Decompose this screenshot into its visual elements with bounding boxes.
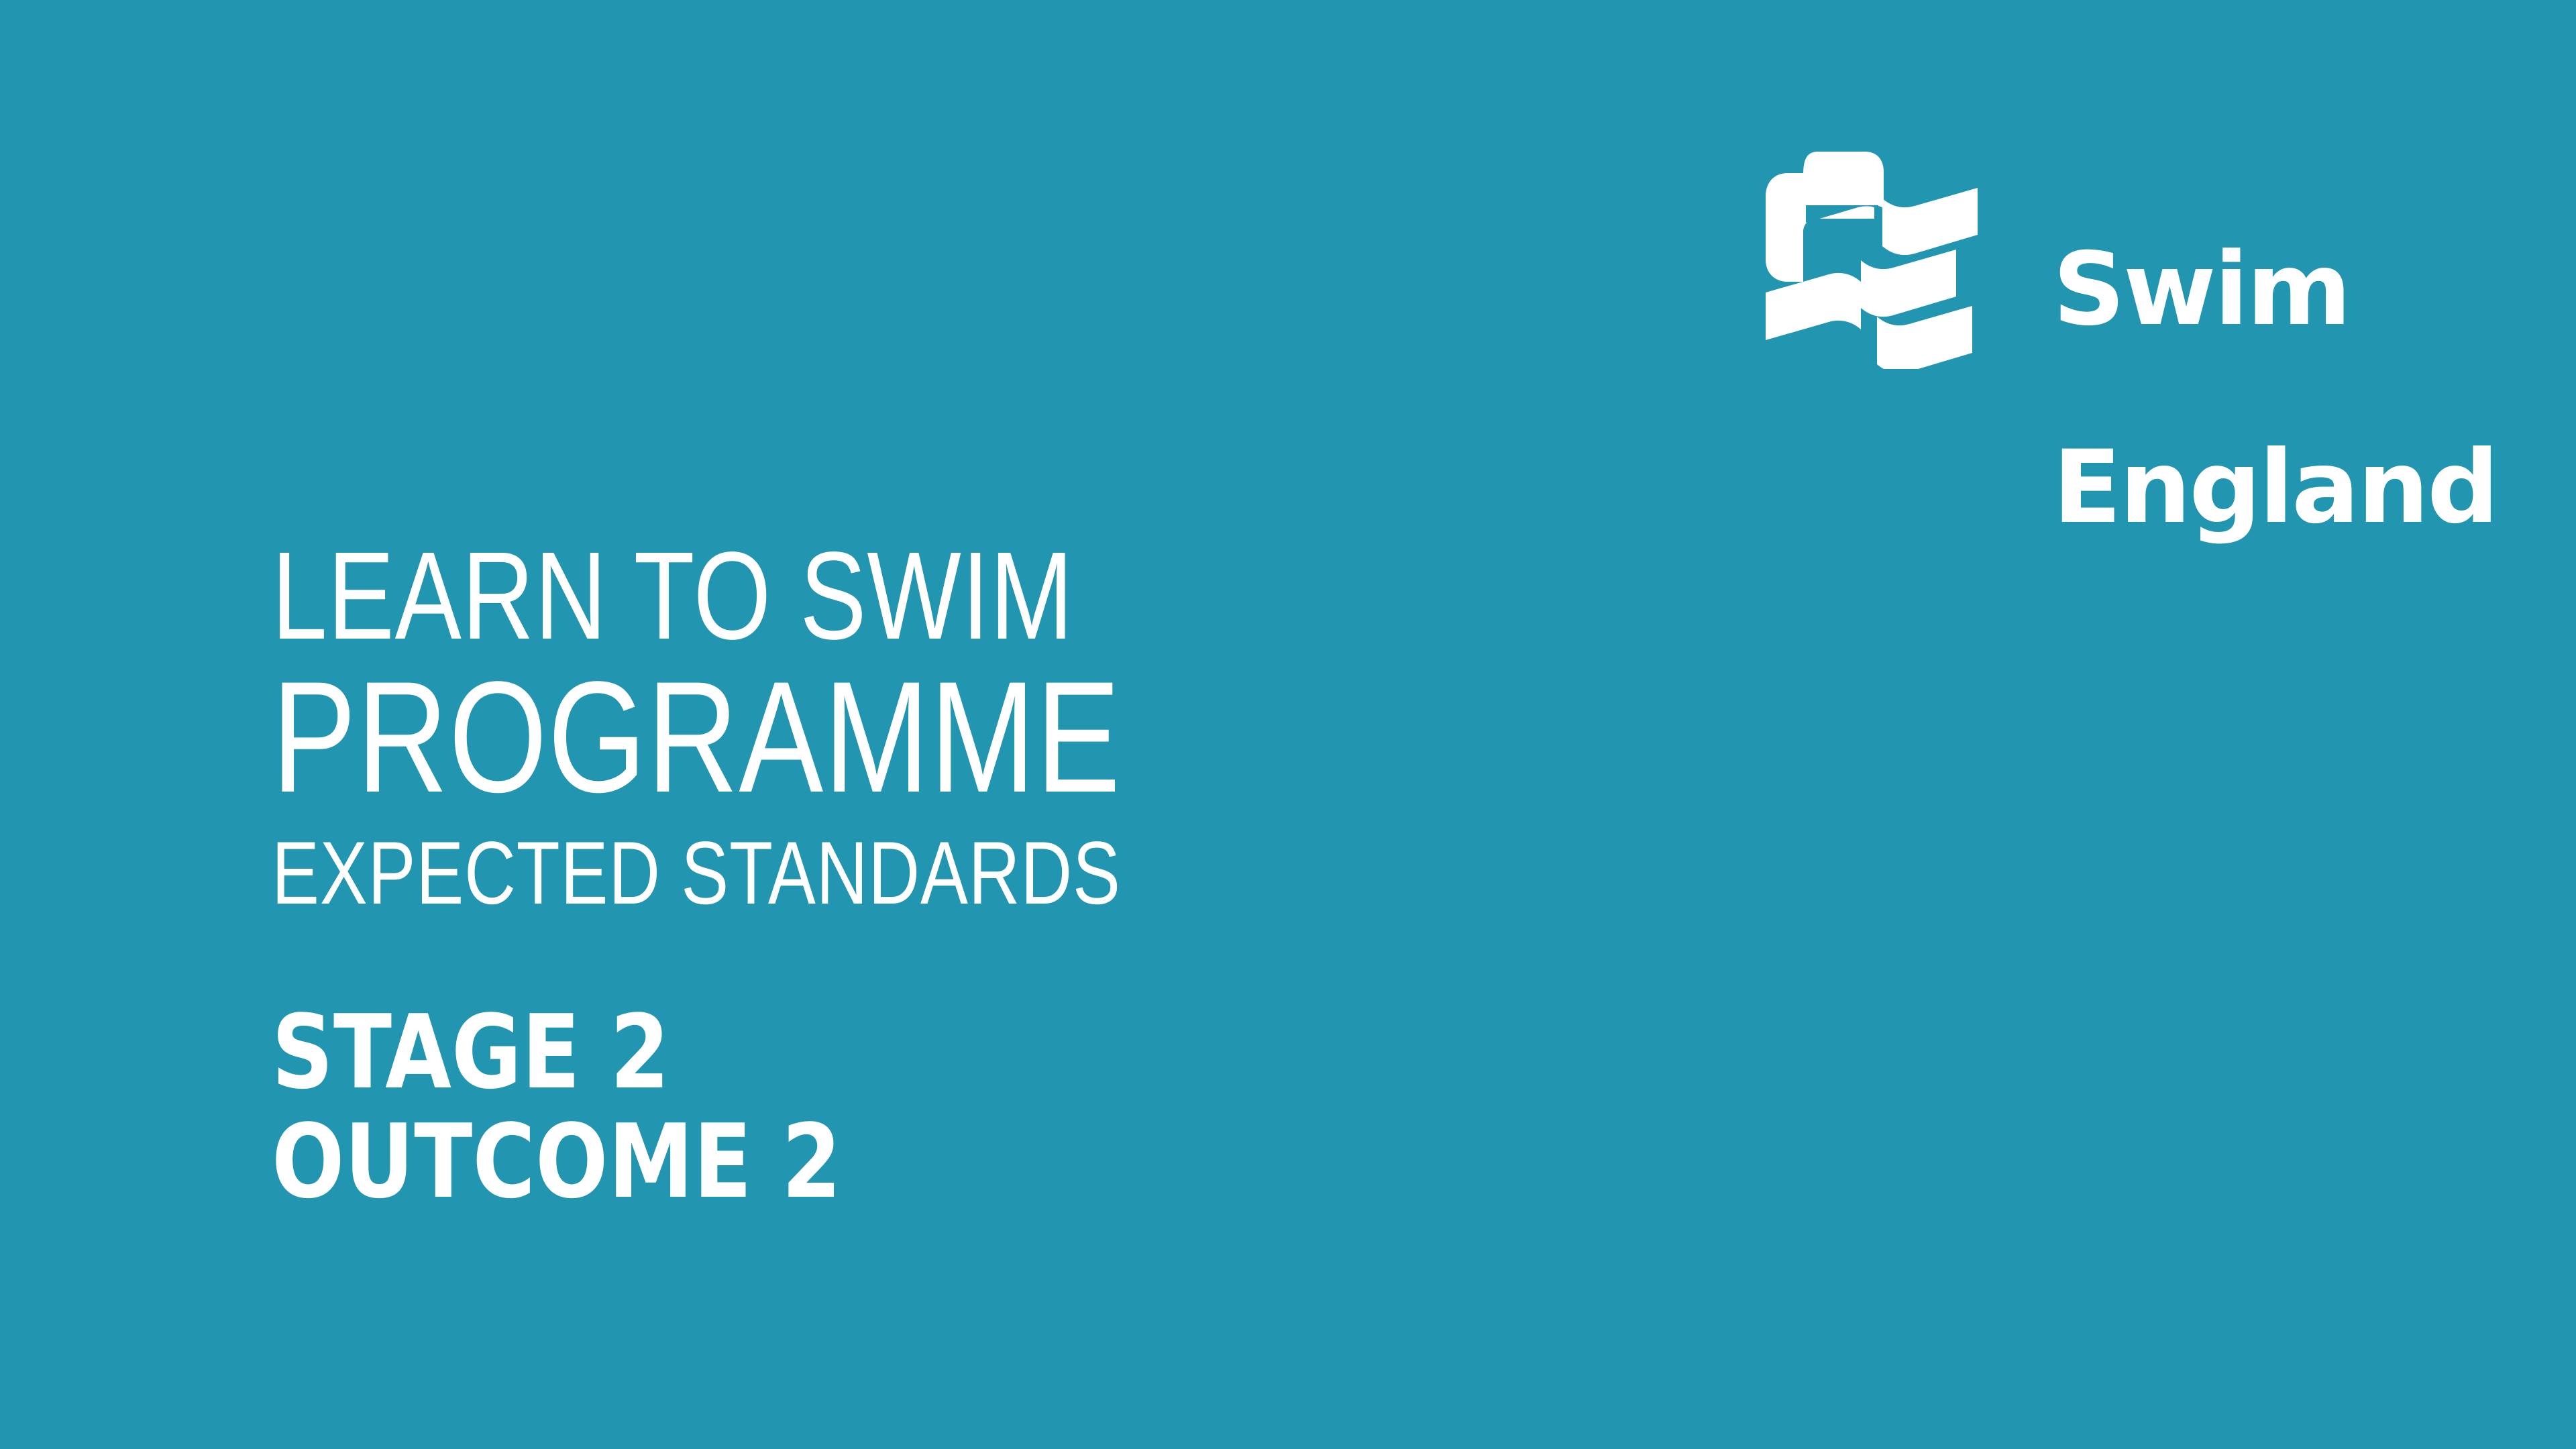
wordmark-line-england: England: [2053, 439, 2428, 538]
swim-england-wave-mark-icon: [1764, 141, 1999, 369]
wordmark-line-swim: Swim: [2053, 241, 2428, 340]
headline-line-learn-to-swim: LEARN TO SWIM: [272, 534, 1184, 659]
stage-outcome: STAGE 2 OUTCOME 2: [272, 998, 1211, 1216]
headline-line-expected-standards: EXPECTED STANDARDS: [272, 826, 1184, 920]
swim-england-wordmark: Swim England: [2053, 142, 2428, 343]
stage-label: STAGE 2: [272, 998, 1061, 1107]
headline: LEARN TO SWIM PROGRAMME EXPECTED STANDAR…: [272, 530, 1412, 920]
headline-line-programme: PROGRAMME: [272, 663, 1184, 812]
title-slide: Swim England LEARN TO SWIM PROGRAMME EXP…: [0, 0, 2576, 1449]
outcome-label: OUTCOME 2: [272, 1107, 1061, 1216]
swim-england-logo: Swim England: [1764, 141, 2435, 376]
